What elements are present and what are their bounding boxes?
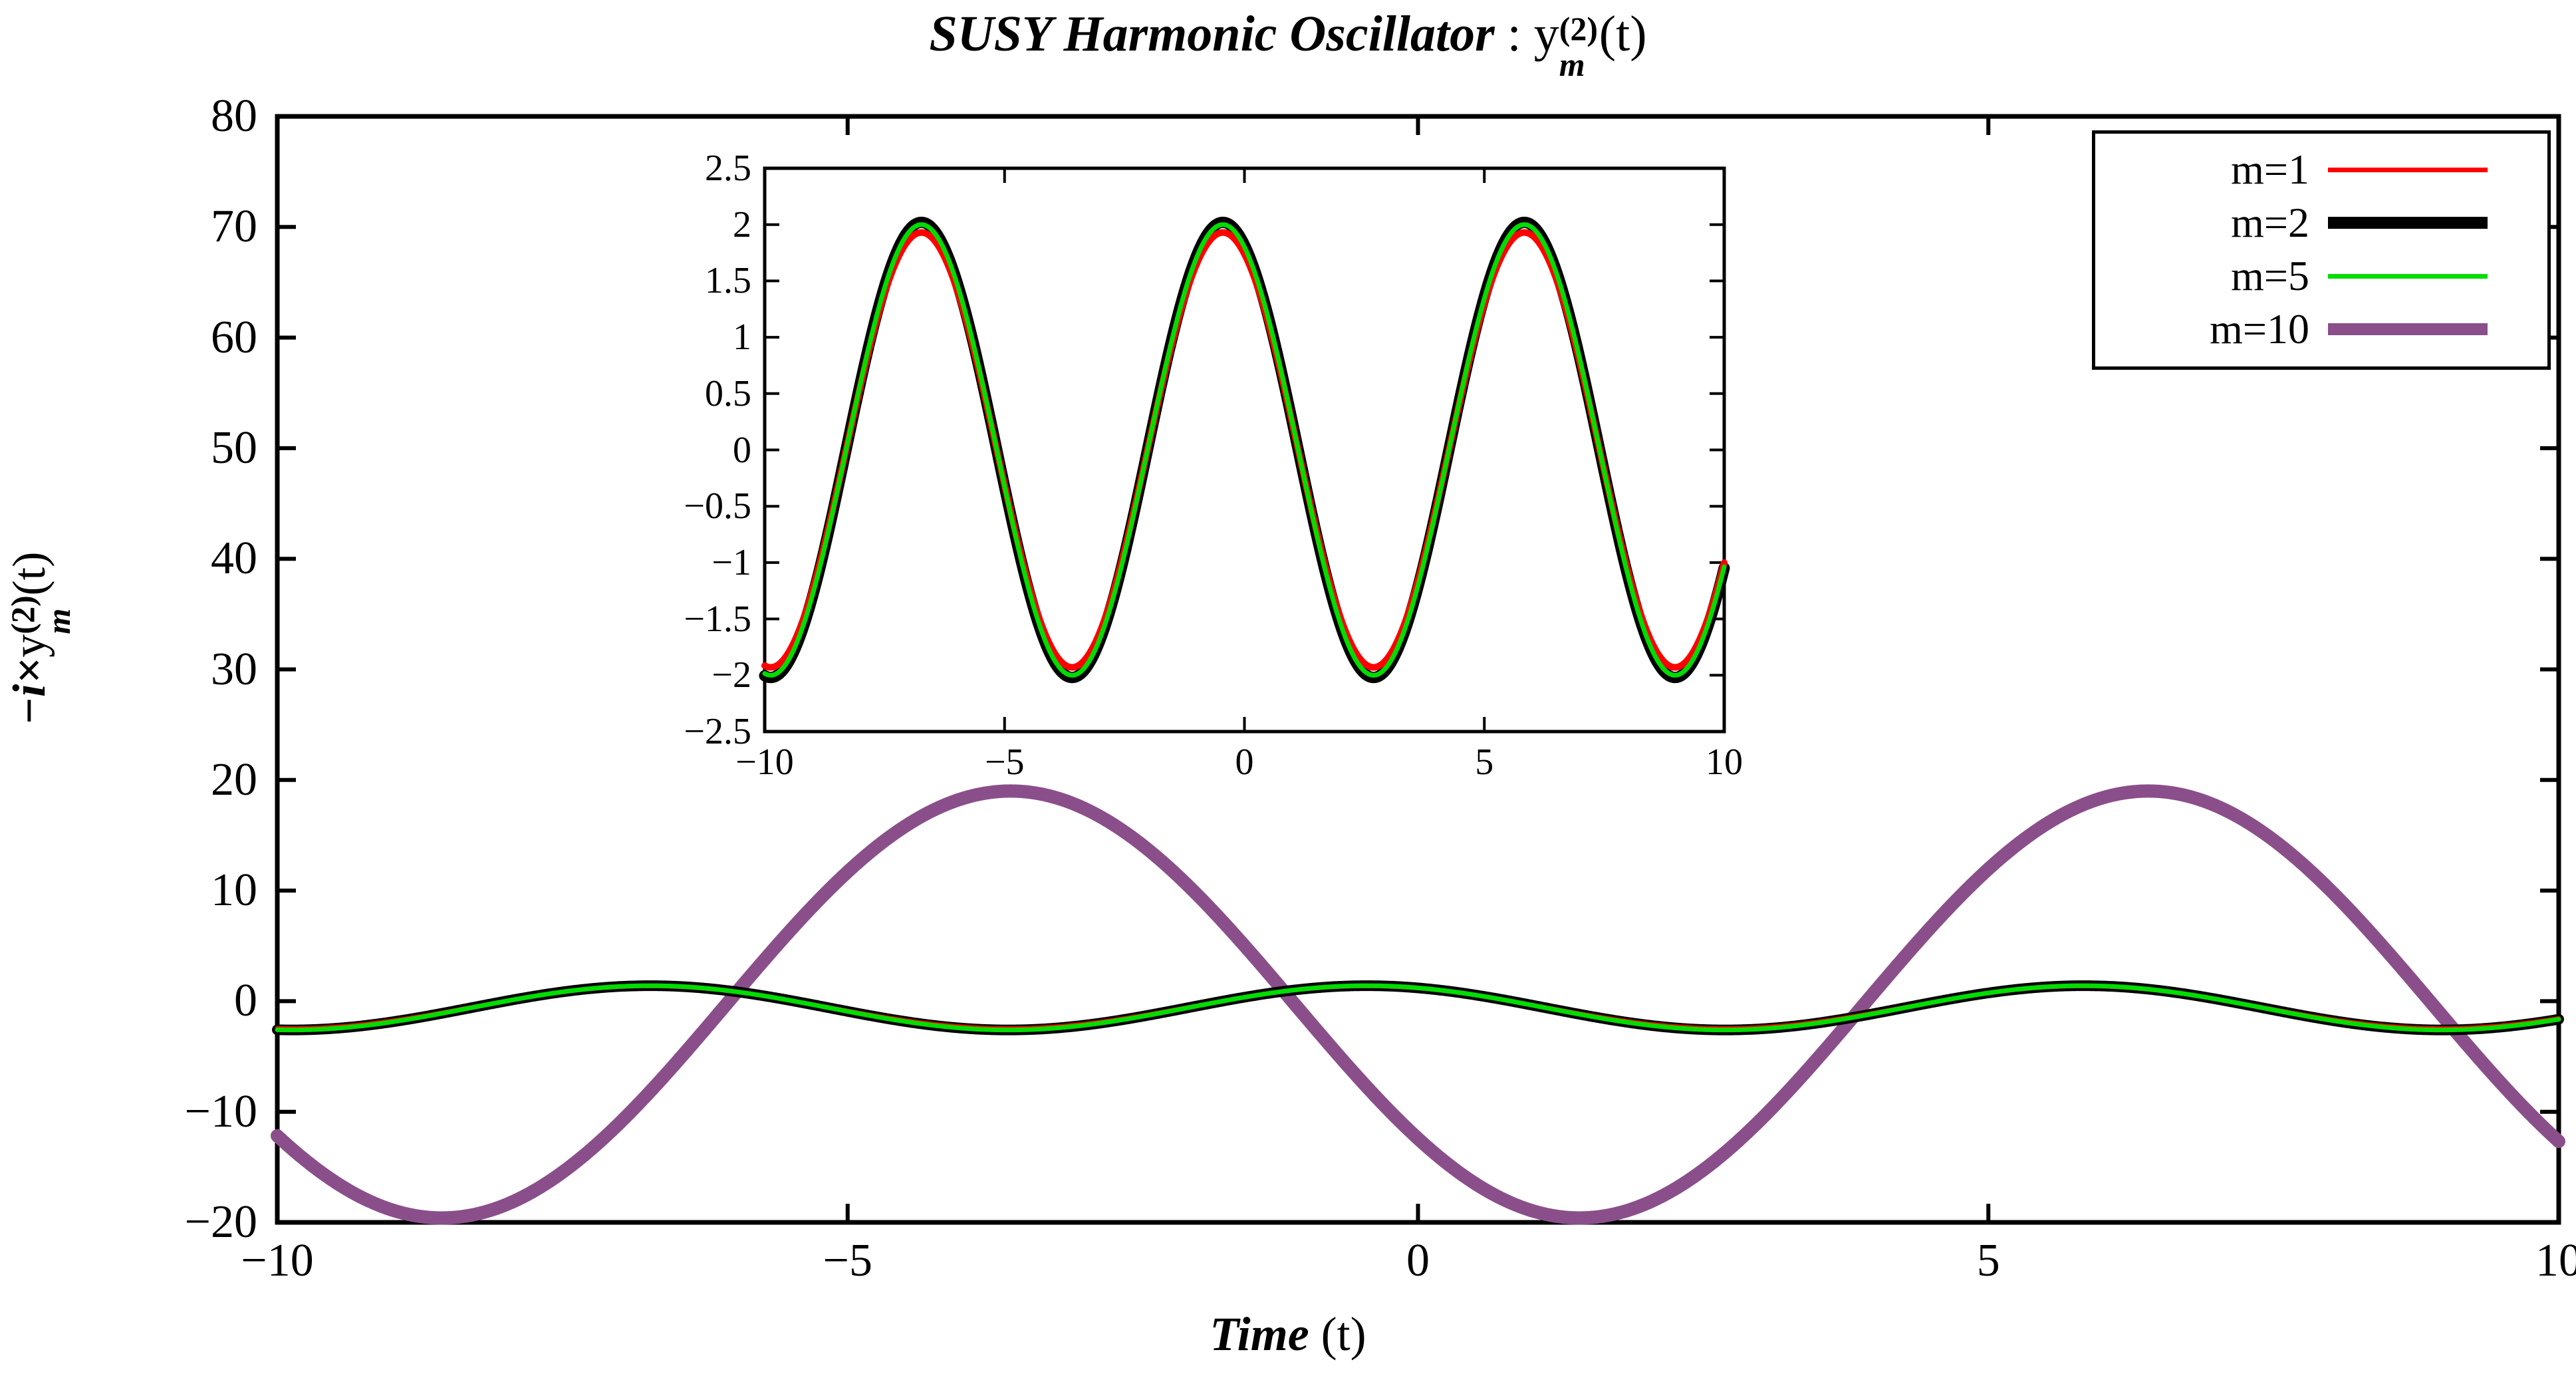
inset-x-tick-label: −10: [735, 741, 794, 783]
inset-data-curves: [765, 222, 1724, 677]
inset-x-tick-label: 10: [1706, 741, 1743, 783]
legend-item[interactable]: m=10: [2095, 303, 2554, 356]
main-x-tick-label: −10: [241, 1234, 313, 1288]
inset-y-tick-label: −2.5: [552, 710, 751, 753]
main-y-tick-label: 20: [11, 754, 257, 807]
legend-item-label: m=1: [2095, 145, 2328, 194]
inset-curve-m2: [765, 222, 1724, 677]
legend-item[interactable]: m=5: [2095, 249, 2554, 303]
inset-y-tick-label: −1.5: [552, 598, 751, 640]
main-y-tick-label: −10: [11, 1085, 257, 1139]
chart-canvas: SUSY Harmonic Oscillator : y(2)m(t) −i×y…: [0, 0, 2576, 1380]
legend-item-label: m=5: [2095, 251, 2328, 301]
legend-item[interactable]: m=1: [2095, 143, 2554, 196]
main-x-tick-label: 5: [1977, 1234, 2000, 1288]
main-x-tick-label: 0: [1406, 1234, 1430, 1288]
inset-y-tick-label: −0.5: [552, 485, 751, 527]
legend-color-swatch: [2328, 168, 2488, 172]
inset-y-tick-label: 0.5: [552, 372, 751, 415]
main-y-tick-label: 0: [11, 974, 257, 1028]
legend-item-label: m=2: [2095, 198, 2328, 247]
legend: m=1m=2m=5m=10: [2092, 130, 2551, 370]
legend-color-swatch: [2328, 323, 2488, 335]
main-y-tick-label: −20: [11, 1196, 257, 1249]
inset-y-tick-label: 2.5: [552, 147, 751, 190]
inset-x-tick-label: 0: [1235, 741, 1254, 783]
inset-y-tick-label: −1: [552, 541, 751, 584]
legend-color-swatch: [2328, 217, 2488, 229]
inset-y-tick-label: 1: [552, 316, 751, 358]
inset-x-tick-label: 5: [1475, 741, 1493, 783]
inset-x-tick-label: −5: [985, 741, 1025, 783]
inset-curve-m5: [765, 225, 1724, 676]
main-y-tick-label: 10: [11, 864, 257, 917]
main-y-tick-label: 80: [11, 90, 257, 143]
inset-y-tick-label: 2: [552, 204, 751, 246]
main-y-tick-label: 50: [11, 422, 257, 475]
legend-color-swatch: [2328, 274, 2488, 279]
inset-y-tick-label: −2: [552, 654, 751, 696]
main-x-tick-label: −5: [823, 1234, 872, 1288]
main-y-tick-label: 60: [11, 311, 257, 364]
inset-y-tick-label: 1.5: [552, 259, 751, 302]
inset-y-tick-label: 0: [552, 429, 751, 472]
main-y-tick-label: 30: [11, 643, 257, 696]
main-y-tick-label: 70: [11, 200, 257, 253]
curve-m2: [277, 986, 2559, 1030]
legend-item[interactable]: m=2: [2095, 196, 2554, 249]
legend-item-label: m=10: [2095, 305, 2328, 354]
inset-curve-m1: [765, 233, 1724, 668]
main-y-tick-label: 40: [11, 532, 257, 585]
main-x-tick-label: 10: [2535, 1234, 2576, 1288]
main-data-curves: [277, 791, 2559, 1218]
